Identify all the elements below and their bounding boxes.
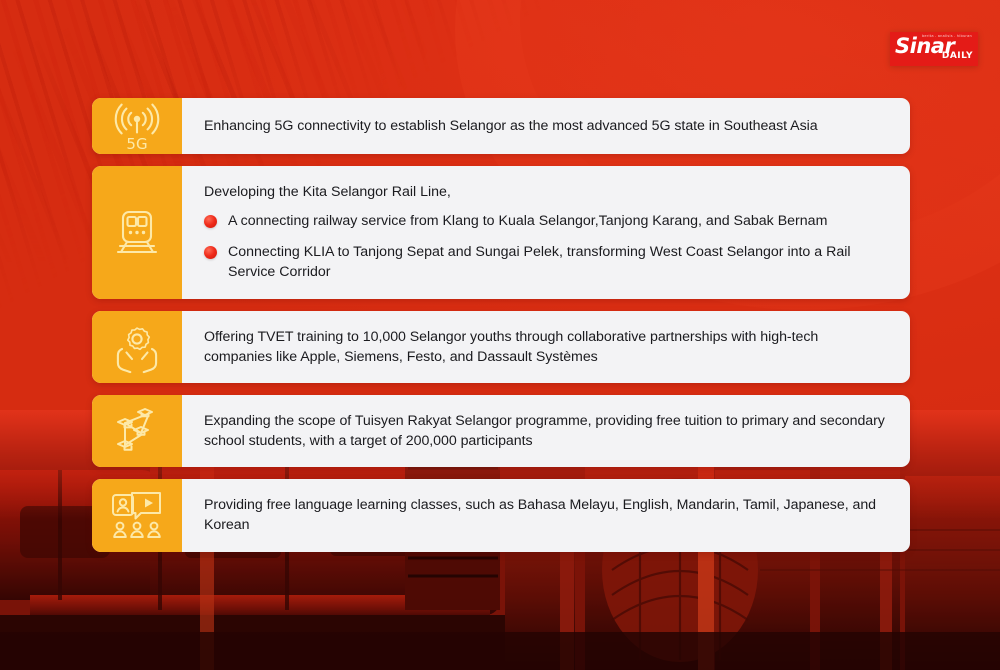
bullet-dot-icon [204, 215, 217, 228]
graduation-network-icon [109, 403, 165, 459]
card-icon-panel [92, 395, 182, 467]
card-text: Enhancing 5G connectivity to establish S… [204, 116, 890, 136]
5g-signal-icon: 5G [109, 98, 165, 154]
card-bullet-list: A connecting railway service from Klang … [204, 211, 890, 282]
card-body: Providing free language learning classes… [182, 479, 910, 551]
logo-subtitle: DAILY [942, 52, 973, 61]
card-text: Expanding the scope of Tuisyen Rakyat Se… [204, 411, 890, 451]
bullet-text: A connecting railway service from Klang … [228, 211, 827, 231]
train-icon [109, 204, 165, 260]
initiative-card[interactable]: Providing free language learning classes… [92, 479, 910, 551]
card-body: Offering TVET training to 10,000 Selango… [182, 311, 910, 383]
card-body: Enhancing 5G connectivity to establish S… [182, 98, 910, 154]
initiative-card[interactable]: Expanding the scope of Tuisyen Rakyat Se… [92, 395, 910, 467]
card-body: Expanding the scope of Tuisyen Rakyat Se… [182, 395, 910, 467]
initiative-card-list: 5G Enhancing 5G connectivity to establis… [92, 98, 910, 552]
5g-icon-label: 5G [126, 135, 147, 153]
bullet-item: Connecting KLIA to Tanjong Sepat and Sun… [204, 242, 890, 282]
hands-gear-training-icon [109, 319, 165, 375]
card-icon-panel [92, 311, 182, 383]
video-learning-group-icon [108, 487, 166, 543]
initiative-card[interactable]: 5G Enhancing 5G connectivity to establis… [92, 98, 910, 154]
card-text: Providing free language learning classes… [204, 495, 890, 535]
bullet-text: Connecting KLIA to Tanjong Sepat and Sun… [228, 242, 890, 282]
card-icon-panel: 5G [92, 98, 182, 154]
bullet-dot-icon [204, 246, 217, 259]
bullet-item: A connecting railway service from Klang … [204, 211, 890, 231]
initiative-card[interactable]: Offering TVET training to 10,000 Selango… [92, 311, 910, 383]
sinar-daily-logo[interactable]: berita . analisis . hiburan Sinar DAILY [890, 32, 978, 66]
card-icon-panel [92, 166, 182, 299]
card-lead-text: Developing the Kita Selangor Rail Line, [204, 182, 890, 202]
card-body: Developing the Kita Selangor Rail Line, … [182, 166, 910, 299]
initiative-card[interactable]: Developing the Kita Selangor Rail Line, … [92, 166, 910, 299]
card-text: Offering TVET training to 10,000 Selango… [204, 327, 890, 367]
card-icon-panel [92, 479, 182, 551]
infographic-canvas: berita . analisis . hiburan Sinar DAILY … [0, 0, 1000, 670]
